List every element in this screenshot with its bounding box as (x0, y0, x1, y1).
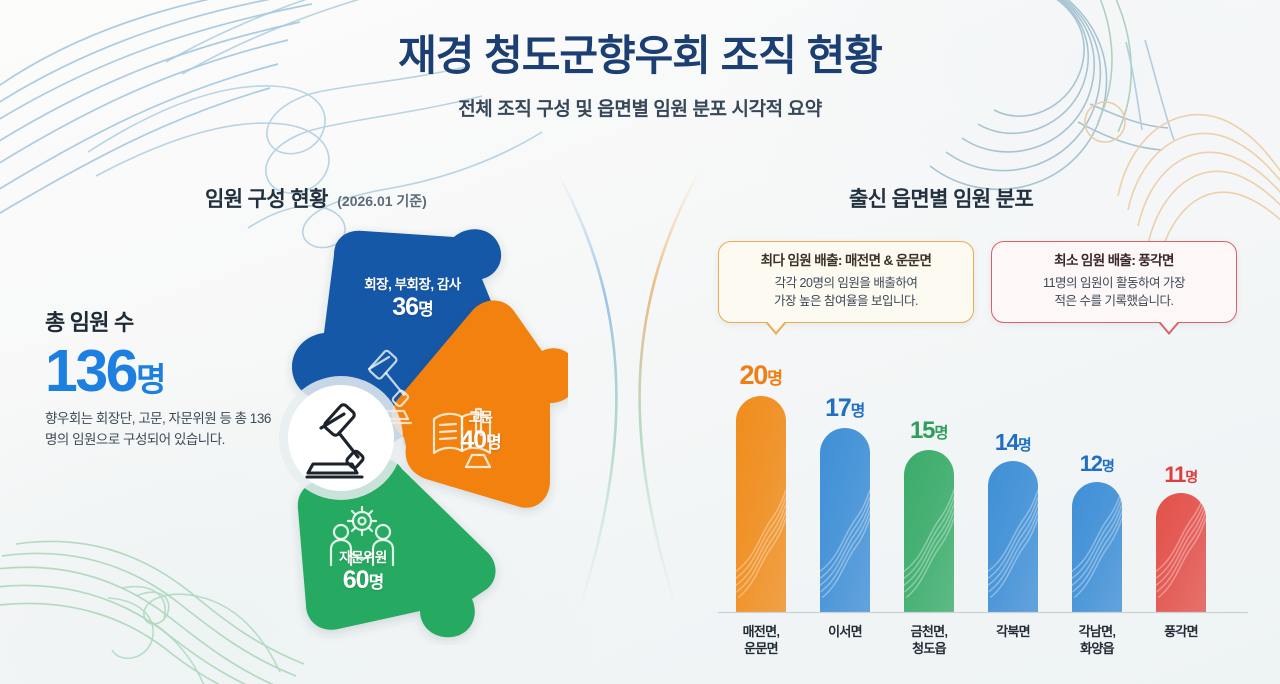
bar-category-label-6: 풍각면 (1164, 623, 1198, 640)
header: 재경 청도군향우회 조직 현황 전체 조직 구성 및 읍면별 임원 분포 시각적… (0, 32, 1280, 121)
bar-6 (1152, 476, 1212, 612)
right-section-heading-text: 출신 읍면별 임원 분포 (849, 188, 1033, 211)
callout-min-pointer-fill (1158, 319, 1180, 332)
total-officers-number: 136 (45, 338, 136, 404)
callout-max-title: 최다 임원 배출: 매전면 & 운문면 (733, 253, 959, 270)
bar-category-label-1: 매전면,운문면 (743, 623, 780, 657)
bar-category-label-5: 각남면,화양읍 (1079, 623, 1116, 657)
org-composition-diagram: 회장, 부회장, 감사 36명 고문 40명 자문위원 60명 (258, 225, 568, 645)
bar-category-label-4: 각북면 (996, 623, 1030, 640)
callout-max-officers: 최다 임원 배출: 매전면 & 운문면 각각 20명의 임원을 배출하여 가장 … (718, 241, 974, 323)
center-divider-curves (556, 170, 700, 614)
bar-4 (984, 461, 1044, 612)
bar-2 (816, 428, 876, 612)
wave-lines-bottom-left-swirl (108, 587, 280, 684)
left-section-heading-text: 임원 구성 현황 (205, 188, 328, 211)
total-officers-label: 총 임원 수 (45, 305, 280, 337)
bar-value-label-3: 15명 (910, 417, 948, 445)
bar-category-label-3: 금천면,청도읍 (911, 623, 948, 657)
bar-value-label-5: 12명 (1080, 451, 1115, 477)
bar-value-label-1: 20명 (739, 360, 782, 391)
bar-value-label-4: 14명 (995, 429, 1031, 456)
callout-min-body: 11명의 임원이 활동하여 가장 적은 수를 기록했습니다. (1006, 274, 1222, 310)
callout-max-line2: 가장 높은 참여율을 보입니다. (774, 294, 918, 308)
callout-min-line2: 적은 수를 기록했습니다. (1055, 294, 1174, 308)
callout-max-pointer-fill (765, 319, 787, 332)
page-subtitle: 전체 조직 구성 및 읍면별 임원 분포 시각적 요약 (0, 94, 1280, 121)
total-officers-value: 136명 (45, 341, 280, 401)
bar-3 (900, 450, 960, 612)
total-officers-description: 향우회는 회장단, 고문, 자문위원 등 총 136명의 임원으로 구성되어 있… (45, 409, 280, 451)
page-title: 재경 청도군향우회 조직 현황 (0, 32, 1280, 80)
bar-category-label-2: 이서면 (828, 623, 862, 640)
callout-min-title: 최소 임원 배출: 풍각면 (1006, 253, 1222, 270)
callout-min-officers: 최소 임원 배출: 풍각면 11명의 임원이 활동하여 가장 적은 수를 기록했… (991, 241, 1237, 323)
callout-min-line1: 11명의 임원이 활동하여 가장 (1043, 276, 1185, 290)
right-section-heading: 출신 읍면별 임원 분포 (849, 183, 1033, 213)
callout-max-body: 각각 20명의 임원을 배출하여 가장 높은 참여율을 보입니다. (733, 274, 959, 310)
bar-value-label-2: 17명 (825, 394, 865, 423)
left-section-heading: 임원 구성 현황 (2026.01 기준) (205, 183, 427, 213)
officers-by-town-bar-chart: 20명매전면,운문면17명이서면15명금천면,청도읍14명각북면12명각남면,화… (718, 348, 1248, 664)
bar-value-label-6: 11명 (1164, 462, 1197, 488)
bar-5 (1068, 476, 1128, 612)
left-section-heading-note: (2026.01 기준) (337, 193, 427, 209)
total-officers-unit: 명 (136, 361, 165, 398)
center-emblem (276, 373, 406, 503)
bar-1 (732, 396, 792, 612)
infographic-canvas: 재경 청도군향우회 조직 현황 전체 조직 구성 및 읍면별 임원 분포 시각적… (0, 0, 1280, 684)
total-officers-block: 총 임원 수 136명 향우회는 회장단, 고문, 자문위원 등 총 136명의… (45, 305, 280, 451)
callout-max-line1: 각각 20명의 임원을 배출하여 (775, 276, 918, 290)
